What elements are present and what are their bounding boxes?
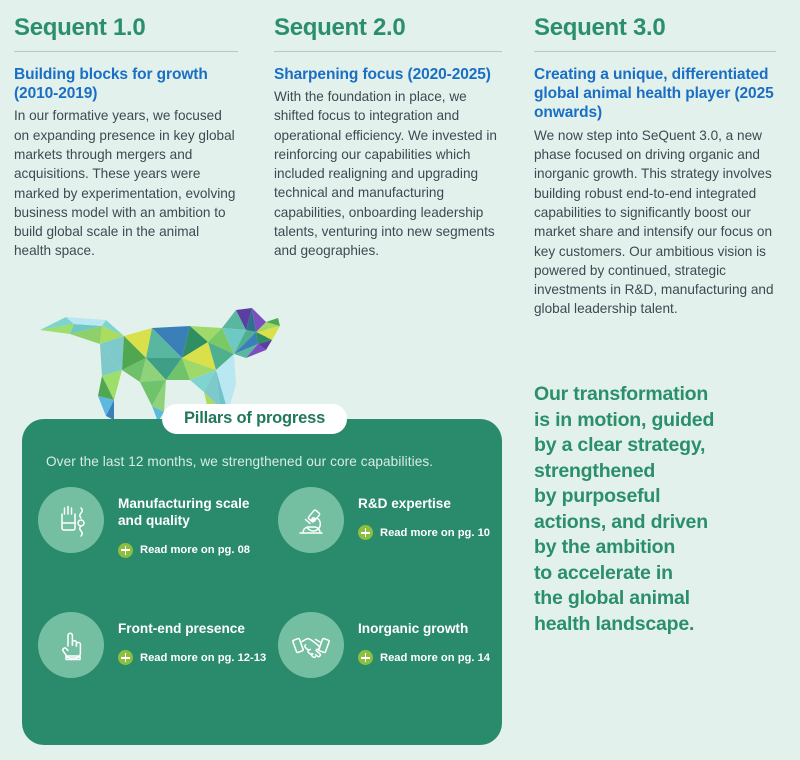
phase-subtitle: Building blocks for growth (2010-2019) — [14, 65, 238, 104]
phase-column-3: Sequent 3.0 Creating a unique, different… — [520, 14, 800, 319]
pillar-body: Inorganic growth Read more on pg. 14 — [358, 612, 490, 665]
phase-subtitle: Creating a unique, differentiated global… — [534, 65, 776, 123]
pillar-item-rnd[interactable]: R&D expertise Read more on pg. 10 — [278, 487, 490, 553]
read-more-link[interactable]: Read more on pg. 08 — [118, 543, 268, 558]
phases-row: Sequent 1.0 Building blocks for growth (… — [0, 14, 800, 319]
pillar-item-manufacturing[interactable]: Manufacturing scale and quality Read mor… — [38, 487, 268, 558]
divider — [274, 51, 502, 52]
pillar-item-frontend[interactable]: Front-end presence Read more on pg. 12-1… — [38, 612, 266, 678]
phase-title: Sequent 2.0 — [274, 14, 502, 42]
plus-icon — [118, 543, 133, 558]
read-more-link[interactable]: Read more on pg. 10 — [358, 525, 490, 540]
pillars-badge: Pillars of progress — [162, 404, 347, 434]
plus-icon — [358, 650, 373, 665]
phase-title: Sequent 1.0 — [14, 14, 238, 42]
read-more-link[interactable]: Read more on pg. 14 — [358, 650, 490, 665]
pillar-label: Front-end presence — [118, 620, 266, 637]
phase-subtitle: Sharpening focus (2020-2025) — [274, 65, 502, 84]
plus-icon — [358, 525, 373, 540]
read-more-label: Read more on pg. 14 — [380, 652, 490, 664]
plus-icon — [118, 650, 133, 665]
transformation-statement: Our transformation is in motion, guided … — [534, 382, 784, 637]
divider — [534, 51, 776, 52]
read-more-label: Read more on pg. 10 — [380, 527, 490, 539]
phase-body: We now step into SeQuent 3.0, a new phas… — [534, 126, 776, 319]
pillar-item-inorganic[interactable]: Inorganic growth Read more on pg. 14 — [278, 612, 490, 678]
pillar-body: R&D expertise Read more on pg. 10 — [358, 487, 490, 540]
pointing-hand-icon — [38, 612, 104, 678]
phase-body: In our formative years, we focused on ex… — [14, 106, 238, 260]
pillar-label: R&D expertise — [358, 495, 490, 512]
pillar-label: Inorganic growth — [358, 620, 490, 637]
pillar-body: Manufacturing scale and quality Read mor… — [118, 487, 268, 558]
microscope-icon — [278, 487, 344, 553]
divider — [14, 51, 238, 52]
read-more-label: Read more on pg. 08 — [140, 544, 250, 556]
beaker-icon — [38, 487, 104, 553]
pillars-caption: Over the last 12 months, we strengthened… — [46, 454, 433, 469]
phase-body: With the foundation in place, we shifted… — [274, 87, 502, 261]
pillar-label: Manufacturing scale and quality — [118, 495, 268, 530]
read-more-link[interactable]: Read more on pg. 12-13 — [118, 650, 266, 665]
pillar-body: Front-end presence Read more on pg. 12-1… — [118, 612, 266, 665]
phase-column-1: Sequent 1.0 Building blocks for growth (… — [0, 14, 260, 319]
phase-column-2: Sequent 2.0 Sharpening focus (2020-2025)… — [260, 14, 520, 319]
read-more-label: Read more on pg. 12-13 — [140, 652, 266, 664]
phase-title: Sequent 3.0 — [534, 14, 776, 42]
handshake-icon — [278, 612, 344, 678]
